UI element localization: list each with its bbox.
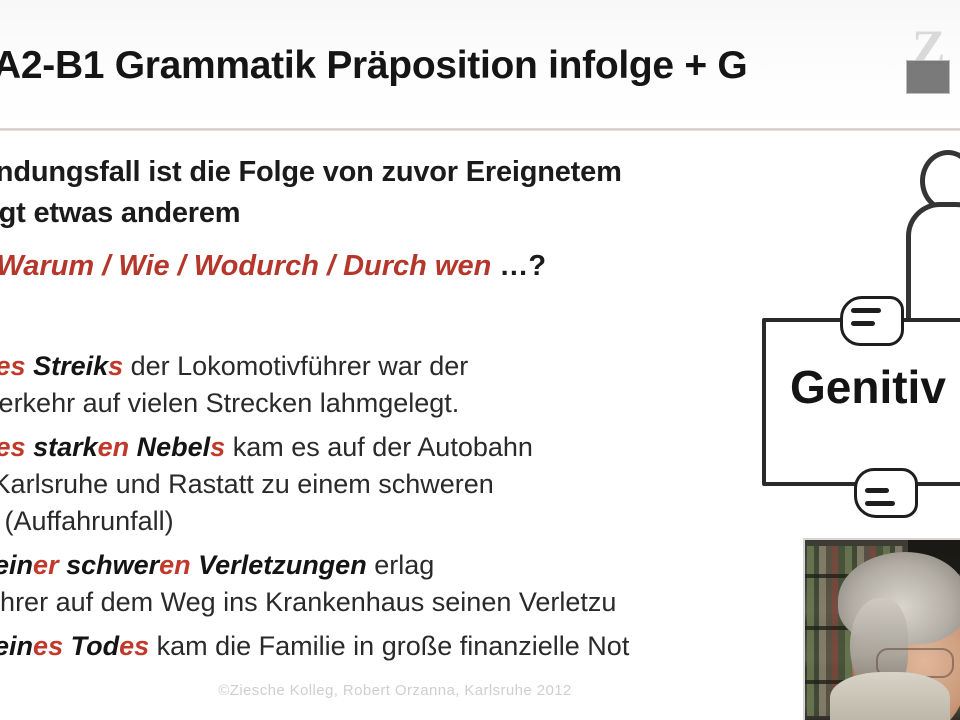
z-logo-bar [906,60,950,94]
example-mid: Streik [26,351,109,381]
example-genitive-ending: es [119,631,149,661]
slide-root: A2-B1 Grammatik Präposition infolge + G … [0,0,960,720]
example-genitive-ending: en [98,432,130,462]
webcam-video-overlay[interactable] [803,538,960,720]
example-highlight: ge des starken Nebels [0,432,225,462]
lead-line-2: s folgt etwas anderem [0,193,960,234]
page-title: A2-B1 Grammatik Präposition infolge + G [0,44,747,88]
webcam-person-shirt [830,672,950,720]
example-mid: stark [26,432,98,462]
slide-header: A2-B1 Grammatik Präposition infolge + G … [0,0,960,130]
copyright-footer: ©Ziesche Kolleg, Robert Orzanna, Karlsru… [0,682,790,699]
pointing-hand-icon [854,468,918,518]
example-pre: ge sein [0,550,33,580]
example-mid: schwer [59,550,160,580]
genitiv-placard: Genitiv [762,318,960,490]
example-mid2: Verletzungen [191,550,367,580]
example-rest: erlag [367,550,435,580]
example-genitive-ending: es [33,631,63,661]
z-logo-icon: Z [906,26,952,100]
example-rest: kam es auf der Autobahn [225,432,533,462]
example-mid2: Nebel [129,432,210,462]
example-rest: der Lokomotivführer war der [123,351,468,381]
example-genitive-ending: es [0,432,26,462]
example-genitive-ending: s [108,351,123,381]
example-continuation: nfall. (Auffahrunfall) [0,503,960,540]
example-genitive-ending: en [159,550,191,580]
question-words: Warum / Wie / Wodurch / Durch wen [0,250,491,282]
example-highlight: ge des Streiks [0,351,123,381]
example-genitive-ending: s [210,432,225,462]
placard-label: Genitiv [790,360,946,414]
example-genitive-ending: es [0,351,26,381]
example-rest: kam die Familie in große finanzielle Not [149,631,629,661]
example-mid: Tod [63,631,119,661]
example-genitive-ending: er [33,550,59,580]
lead-line-1: nwendungsfall ist die Folge von zuvor Er… [0,152,960,193]
example-pre: ge sein [0,631,33,661]
question-suffix: …? [499,250,546,282]
example-highlight: ge seines Todes [0,631,149,661]
example-highlight: ge seiner schweren Verletzungen [0,550,367,580]
pointing-hand-icon [840,296,904,346]
question-line: ort: Warum / Wie / Wodurch / Durch wen …… [0,250,960,283]
header-divider [0,128,960,131]
